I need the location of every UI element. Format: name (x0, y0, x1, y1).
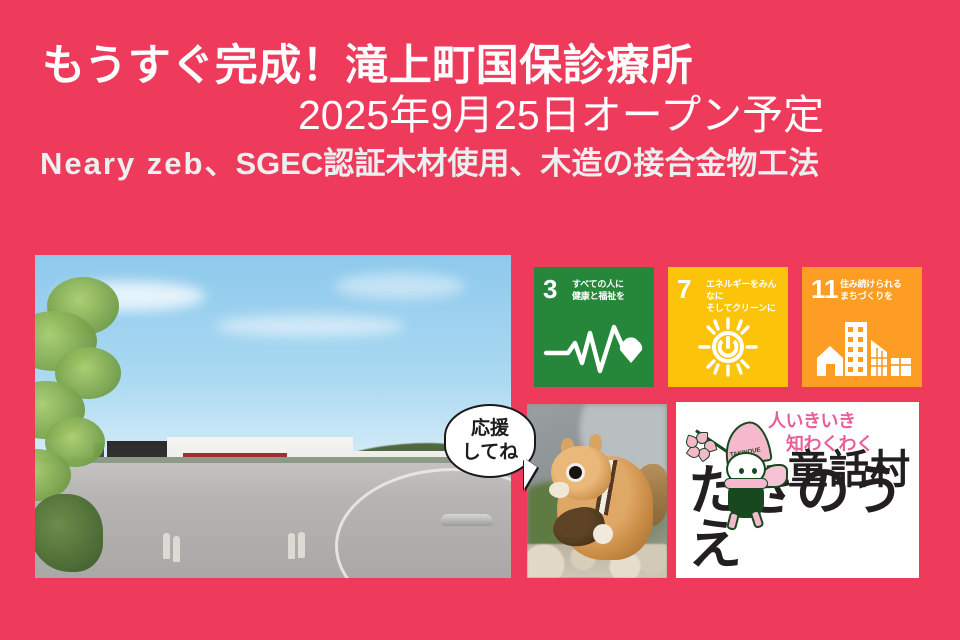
fairy-eye (752, 468, 757, 474)
headline-line-3: Neary zeb、SGEC認証木材使用、木造の接合金物工法 (0, 145, 960, 182)
person-figure (288, 533, 295, 559)
sdg-badge-row: 3 すべての人に 健康と福祉を 7 エネルギーをみんなに そしてクリーンに (534, 267, 922, 387)
headline-line-3-rest: 、SGEC認証木材使用、木造の接合金物工法 (204, 146, 819, 181)
sdg-badge-11: 11 住み続けられる まちづくりを (802, 267, 922, 387)
fairy-mascot: TAKINOUE (690, 420, 794, 532)
sdg-caption: すべての人に 健康と福祉を (572, 278, 648, 302)
town-mascot-logo: 人いきいき 知わくわく 童話村 たきのうえ TAKINOUE (676, 402, 919, 578)
foreground-tree (35, 277, 157, 507)
cloud-shape (335, 273, 465, 299)
sdg-badge-3: 3 すべての人に 健康と福祉を (534, 267, 654, 387)
sdg-caption-line-1: 住み続けられる (840, 278, 916, 290)
heartbeat-icon (534, 316, 654, 378)
logo-inner: 人いきいき 知わくわく 童話村 たきのうえ TAKINOUE (676, 402, 919, 578)
sdg-caption-line-1: すべての人に (572, 278, 648, 290)
headline-line-2: 2025年9月25日オープン予定 (0, 92, 960, 139)
sdg-badge-7: 7 エネルギーをみんなに そしてクリーンに (668, 267, 788, 387)
headline-line-3-latin: Neary zeb (40, 146, 204, 181)
fairy-eye (739, 468, 744, 474)
clinic-render-photo (35, 255, 511, 578)
foreground-shrub (35, 494, 103, 572)
sakura-flower-icon (688, 432, 716, 460)
sun-power-icon (668, 316, 788, 378)
chipmunk-photo: 木の実を持つシマリス (527, 404, 667, 578)
speech-bubble-tail (524, 458, 537, 489)
sdg-number: 3 (543, 276, 557, 302)
speech-bubble-text: 応援 してね (462, 417, 518, 465)
sdg-caption: 住み続けられる まちづくりを (840, 278, 916, 302)
speech-bubble: 応援 してね (444, 404, 536, 478)
poster-root: もうすぐ完成！滝上町国保診療所 2025年9月25日オープン予定 Neary z… (0, 0, 960, 640)
headline-block: もうすぐ完成！滝上町国保診療所 2025年9月25日オープン予定 Neary z… (0, 42, 960, 182)
cloud-shape (215, 315, 405, 337)
sdg-caption-line-2: 健康と福祉を (572, 290, 648, 302)
sdg-caption-line-2: まちづくりを (840, 290, 916, 302)
chipmunk-eye (569, 466, 582, 479)
person-figure (173, 536, 180, 562)
sdg-caption-line-1: エネルギーをみんなに (706, 278, 782, 302)
person-figure (298, 532, 305, 558)
fairy-scarf (724, 478, 768, 489)
sdg-caption: エネルギーをみんなに そしてクリーンに (706, 278, 782, 314)
sdg-number: 7 (677, 276, 691, 302)
sdg-caption-line-2: そしてクリーンに (706, 302, 782, 314)
sdg-number: 11 (811, 276, 839, 302)
fairy-leg (726, 511, 740, 531)
parked-car (441, 514, 493, 526)
headline-line-1: もうすぐ完成！滝上町国保診療所 (0, 42, 960, 90)
chipmunk-snout (549, 482, 569, 498)
city-buildings-icon (802, 316, 922, 378)
person-figure (163, 533, 170, 559)
chipmunk-paw (593, 524, 613, 544)
fairy-leg (749, 509, 764, 529)
